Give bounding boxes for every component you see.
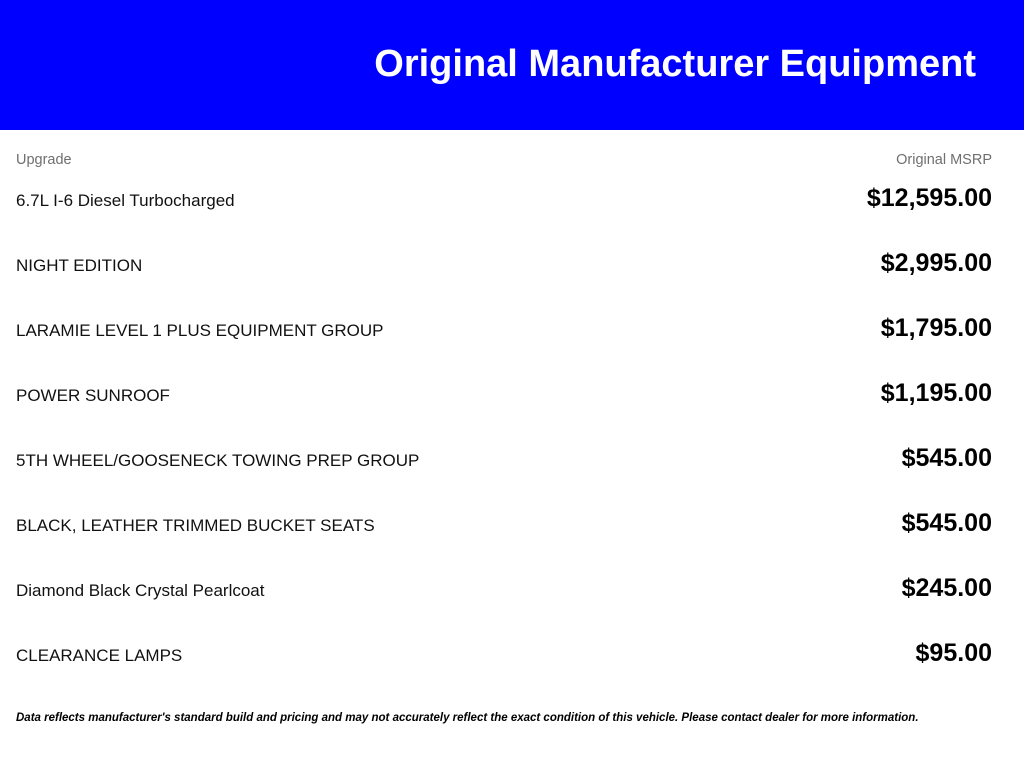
upgrade-label: 5TH WHEEL/GOOSENECK TOWING PREP GROUP [16,451,878,471]
upgrade-price: $1,195.00 [857,379,992,408]
upgrade-price: $1,795.00 [857,314,992,343]
column-header-original-msrp: Original MSRP [896,152,992,168]
upgrade-label: BLACK, LEATHER TRIMMED BUCKET SEATS [16,516,878,536]
upgrade-price: $2,995.00 [857,249,992,278]
upgrade-label: LARAMIE LEVEL 1 PLUS EQUIPMENT GROUP [16,321,857,341]
upgrade-label: NIGHT EDITION [16,256,857,276]
upgrade-price: $545.00 [878,444,992,473]
upgrade-price: $545.00 [878,509,992,538]
upgrade-label: POWER SUNROOF [16,386,857,406]
page-header-banner: Original Manufacturer Equipment [0,0,1024,130]
upgrade-label: CLEARANCE LAMPS [16,646,892,666]
upgrade-price: $95.00 [892,639,992,668]
table-row: Diamond Black Crystal Pearlcoat $245.00 [16,574,992,639]
table-row: 5TH WHEEL/GOOSENECK TOWING PREP GROUP $5… [16,444,992,509]
disclaimer-text: Data reflects manufacturer's standard bu… [16,711,1008,726]
table-row: 6.7L I-6 Diesel Turbocharged $12,595.00 [16,184,992,249]
table-rows: 6.7L I-6 Diesel Turbocharged $12,595.00 … [16,184,992,704]
table-row: LARAMIE LEVEL 1 PLUS EQUIPMENT GROUP $1,… [16,314,992,379]
table-row: CLEARANCE LAMPS $95.00 [16,639,992,704]
upgrade-label: 6.7L I-6 Diesel Turbocharged [16,191,843,211]
equipment-table: Upgrade Original MSRP 6.7L I-6 Diesel Tu… [0,130,1024,704]
table-row: BLACK, LEATHER TRIMMED BUCKET SEATS $545… [16,509,992,574]
table-row: POWER SUNROOF $1,195.00 [16,379,992,444]
upgrade-label: Diamond Black Crystal Pearlcoat [16,581,878,601]
page-title: Original Manufacturer Equipment [374,44,976,86]
upgrade-price: $12,595.00 [843,184,992,213]
column-header-upgrade: Upgrade [16,152,72,168]
upgrade-price: $245.00 [878,574,992,603]
table-row: NIGHT EDITION $2,995.00 [16,249,992,314]
table-column-headers: Upgrade Original MSRP [16,130,992,172]
equipment-page: Original Manufacturer Equipment Upgrade … [0,0,1024,768]
